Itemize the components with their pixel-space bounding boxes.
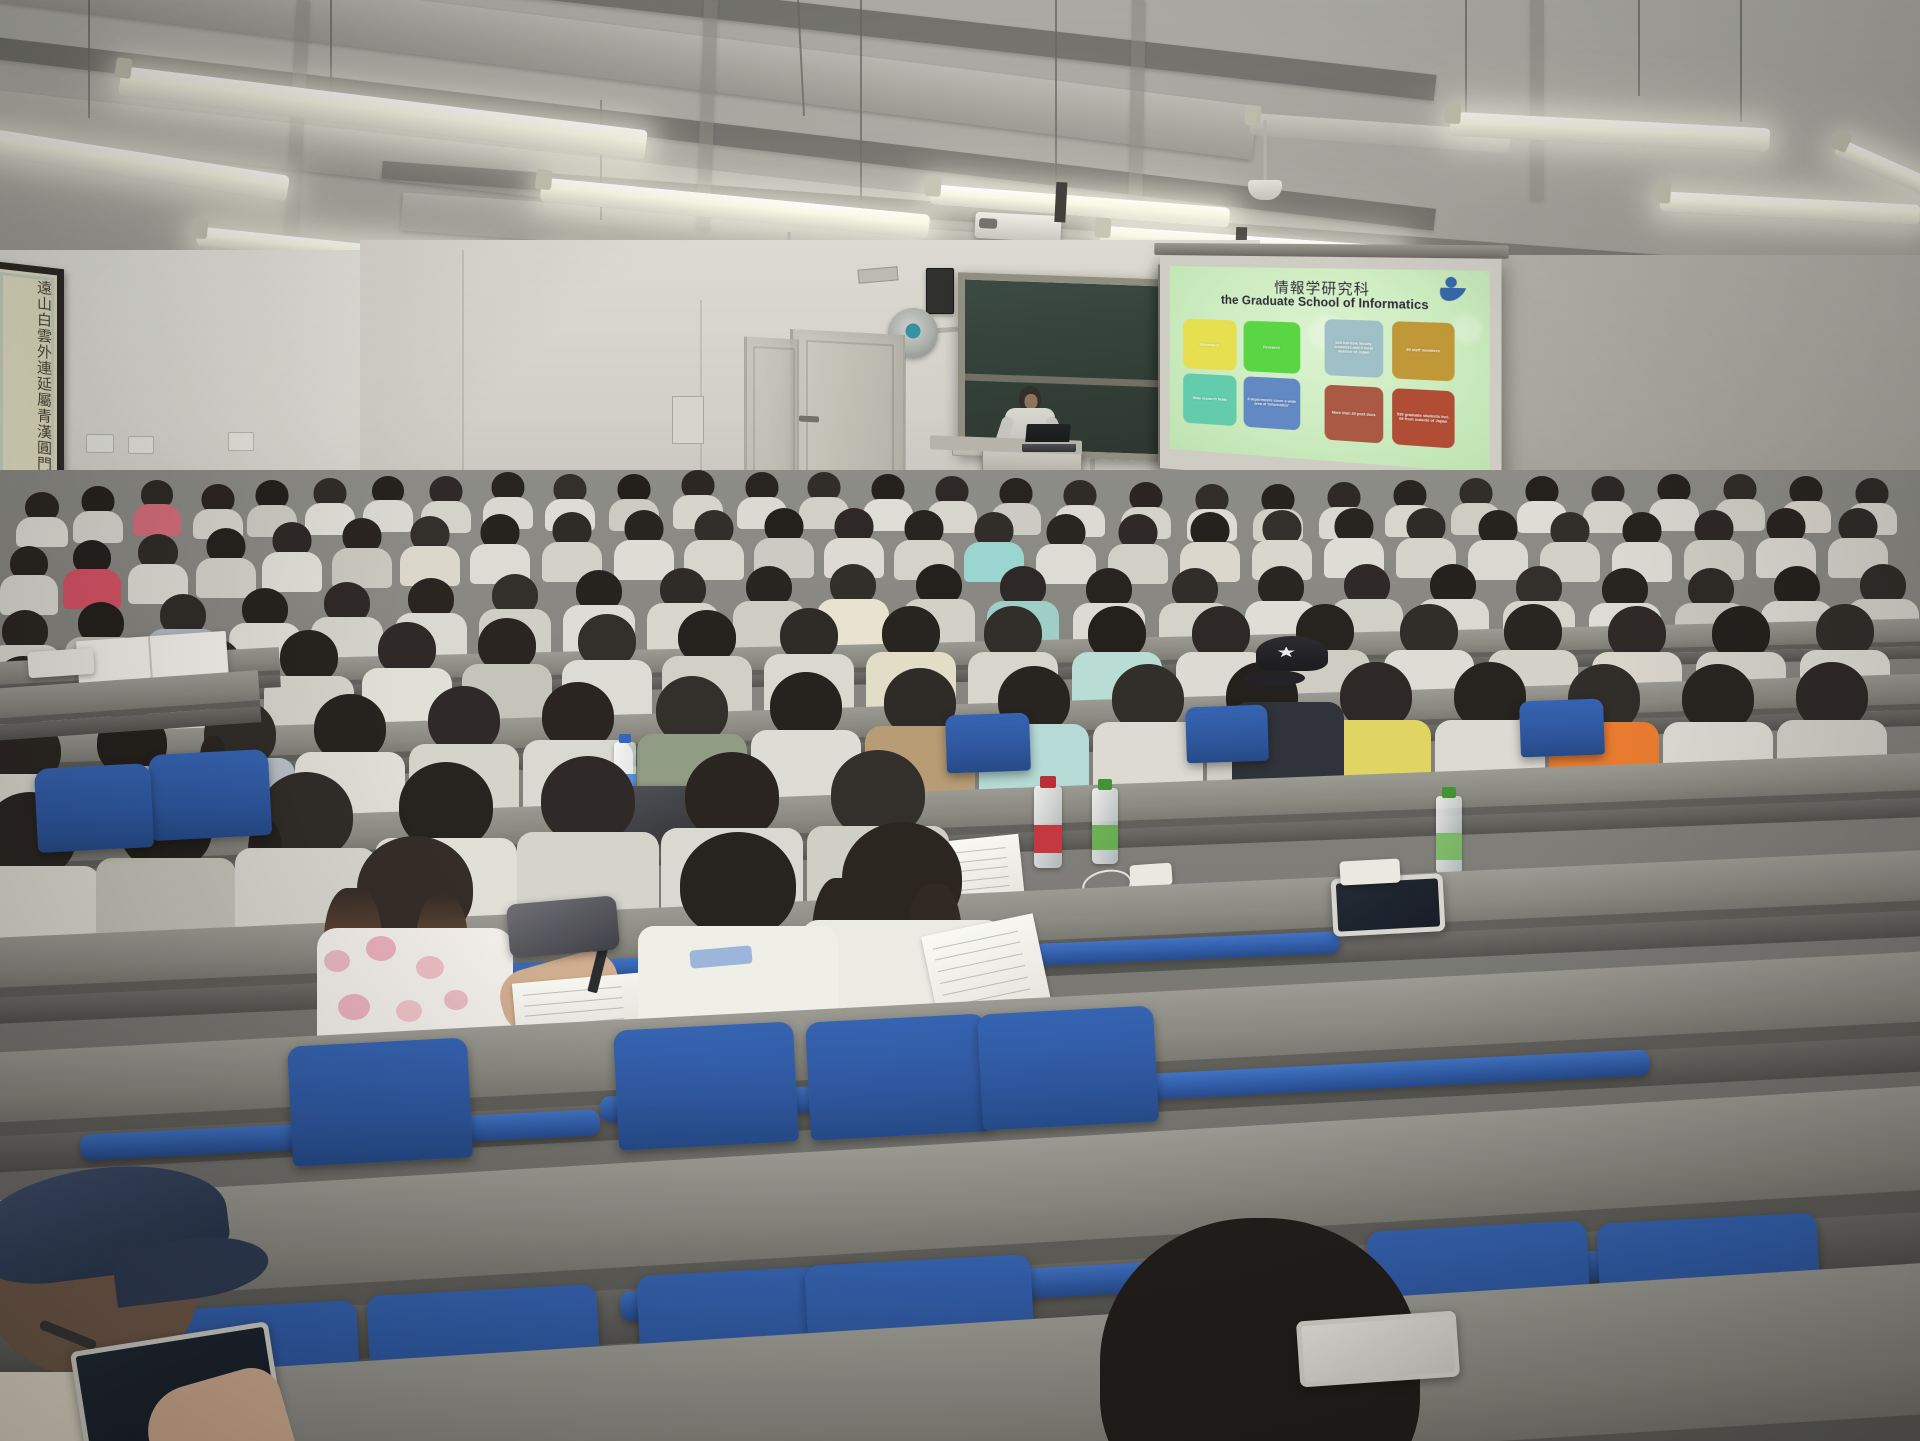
seat-back[interactable] [148,749,272,841]
smartphone[interactable] [27,648,95,679]
lecture-hall-photo: 遠山白雲外連延屬青漢圓門 情報学研究科 the Graduate School … [0,0,1920,1441]
water-bottle[interactable] [1092,788,1118,864]
calligraphy-text: 遠山白雲外連延屬青漢圓門 [3,275,51,498]
audience-member [1184,512,1236,572]
seat-back[interactable] [977,1005,1159,1130]
front-door-leaf[interactable] [744,337,799,492]
audience-member [136,480,178,528]
audience-member [336,518,388,578]
light-wire [1740,0,1742,122]
audience-member [266,522,318,582]
audience-member [76,486,120,534]
audience-member [618,510,670,570]
slide-tile-1: Research [1244,321,1300,374]
audience-member [132,534,184,594]
seat-back[interactable] [805,1013,991,1140]
slide-tile-5: 6 departments cover a wide area of 'Info… [1244,376,1300,430]
audience-member [1102,664,1194,788]
audience-member [196,484,240,530]
audience-member [1328,508,1380,568]
audience-member [1616,512,1668,572]
audience-member [1544,512,1596,572]
projection-screen: 情報学研究科 the Graduate School of Informatic… [1160,255,1502,499]
wall-service-panel[interactable] [672,396,704,444]
light-wire [860,0,862,200]
audience-member [1688,510,1740,570]
audience-member [968,512,1020,572]
audience-member [250,480,294,528]
slide-tile-2: 620 full-time faculty members and 6 loca… [1324,319,1383,379]
light-wire [1638,0,1640,96]
light-wire [88,0,90,118]
wall-speaker [926,268,954,314]
audience-member [1760,508,1812,568]
wall-outlet[interactable] [128,436,154,454]
audience-member [1040,514,1092,574]
audience-member [1832,508,1884,568]
audience-member [828,508,880,568]
slide-tile-4: Wide research fields [1183,373,1237,426]
audience-member [474,514,526,574]
light-wire [1055,0,1057,210]
water-bottle[interactable] [1436,796,1462,874]
audience-member [66,540,118,598]
audience-member [546,512,598,572]
snapback-cap-icon [1256,636,1328,684]
audience-member [404,516,456,576]
audience-member [688,510,740,570]
wall-outlet[interactable] [86,434,114,453]
smartphone[interactable] [1339,858,1400,885]
seat-back[interactable] [945,713,1031,774]
audience-member [1112,514,1164,574]
seat-back[interactable] [34,763,154,853]
presentation-slide: 情報学研究科 the Graduate School of Informatic… [1170,266,1490,473]
seat-back[interactable] [1519,699,1605,758]
slide-tile-grid: Informatics Research 620 full-time facul… [1183,319,1473,452]
slide-tile-0: Informatics [1183,319,1237,371]
tablet-device[interactable] [1296,1310,1460,1387]
slide-tile-3: 60 staff members [1392,321,1454,382]
audience-member [1472,510,1524,570]
seat-back[interactable] [287,1037,473,1166]
graduate-school-logo-icon [1438,277,1463,304]
seating-area [0,470,1920,1441]
light-wire [330,0,332,98]
slide-tile-7: 539 graduate students incl. 69 from outs… [1392,388,1454,448]
lecturer-laptop[interactable] [1026,424,1070,452]
pendant-light [1248,120,1282,186]
slide-tile-6: More than 20 post docs [1324,385,1383,444]
audience-member [1256,510,1308,570]
seat-back[interactable] [613,1021,799,1150]
water-bottle[interactable] [1034,786,1062,868]
audience-member [1400,508,1452,568]
navy-cap-icon [0,1153,238,1332]
pencil-case[interactable] [506,895,620,958]
ceiling-projector [974,212,1061,242]
audience-member [200,528,252,588]
audience-member [898,510,950,570]
seat-back[interactable] [1185,705,1269,764]
audience-member [20,492,64,538]
audience-member [486,472,530,520]
audience-member [758,508,810,568]
wall-outlet[interactable] [228,432,254,451]
audience-member [4,546,54,604]
